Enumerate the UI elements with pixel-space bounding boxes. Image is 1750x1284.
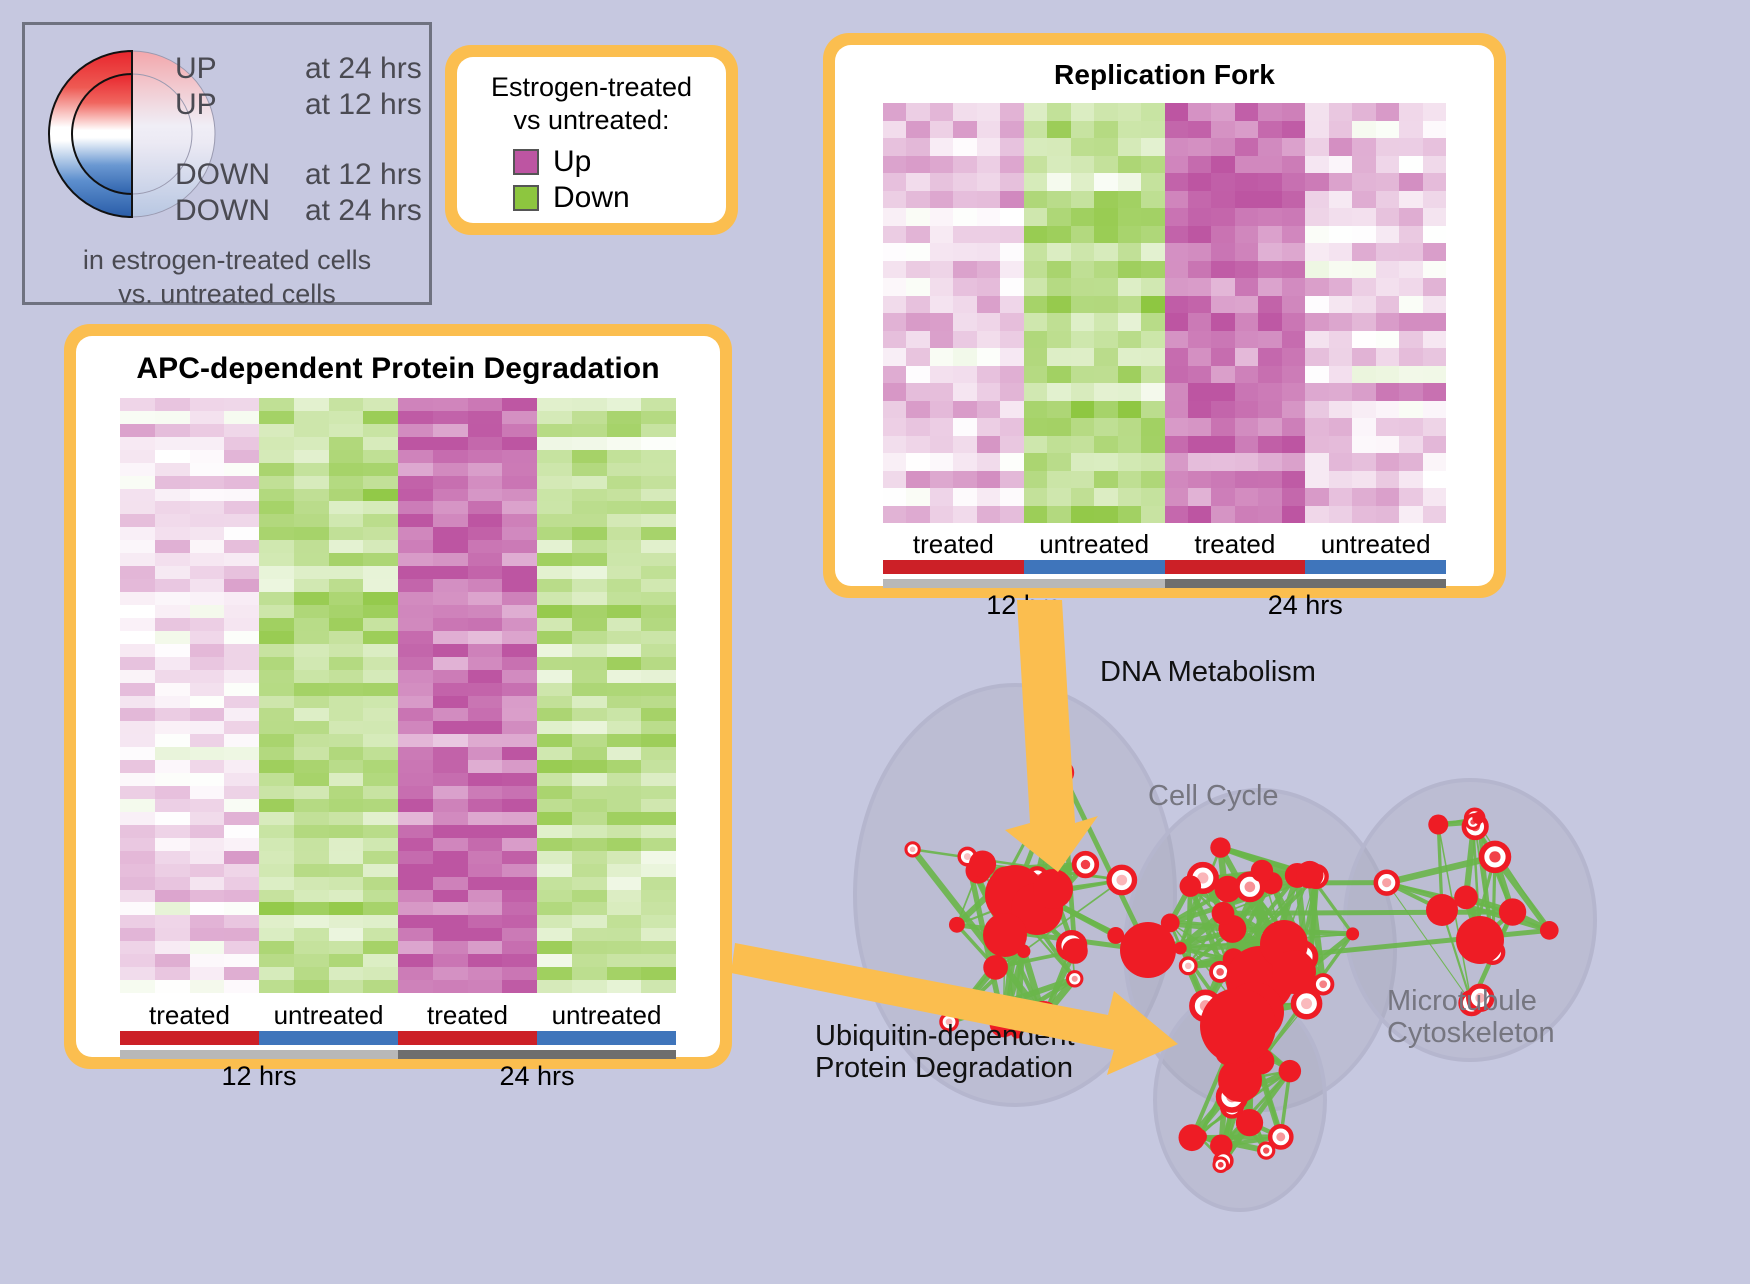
heatmap-cell — [1141, 383, 1164, 401]
heatmap-cell — [1094, 296, 1117, 314]
heatmap-cell — [468, 501, 503, 514]
heatmap-cell — [398, 696, 433, 709]
heatmap-cell — [977, 173, 1000, 191]
heatmap-cell — [537, 696, 572, 709]
replication-fork-time-bars — [883, 579, 1446, 588]
heatmap-cell — [294, 463, 329, 476]
heatmap-cell — [468, 592, 503, 605]
heatmap-cell — [1282, 331, 1305, 349]
heatmap-cell — [155, 489, 190, 502]
heatmap-cell — [1282, 296, 1305, 314]
heatmap-cell — [641, 566, 676, 579]
heatmap-cell — [572, 941, 607, 954]
heatmap-cell — [190, 721, 225, 734]
heatmap-cell — [502, 838, 537, 851]
heatmap-cell — [641, 890, 676, 903]
heatmap-cell — [537, 514, 572, 527]
heatmap-cell — [953, 383, 976, 401]
heatmap-cell — [572, 553, 607, 566]
heatmap-cell — [190, 501, 225, 514]
heatmap-cell — [1118, 383, 1141, 401]
heatmap-cell — [329, 734, 364, 747]
heatmap-cell — [363, 941, 398, 954]
network-node — [1212, 902, 1235, 925]
heatmap-cell — [329, 618, 364, 631]
key-time: at 12 hrs — [305, 157, 422, 193]
time-bar-24hrs — [1165, 579, 1447, 588]
heatmap-cell — [607, 618, 642, 631]
heatmap-cell — [329, 424, 364, 437]
heatmap-cell — [120, 915, 155, 928]
heatmap-cell — [953, 401, 976, 419]
heatmap-cell — [398, 851, 433, 864]
heatmap-cell — [1000, 453, 1023, 471]
heatmap-cell — [572, 877, 607, 890]
heatmap-cell — [120, 877, 155, 890]
heatmap-cell — [641, 631, 676, 644]
heatmap-cell — [537, 864, 572, 877]
heatmap-cell — [906, 506, 929, 524]
heatmap-cell — [537, 618, 572, 631]
network-node-core — [964, 853, 971, 860]
heatmap-cell — [294, 825, 329, 838]
heatmap-cell — [398, 812, 433, 825]
heatmap-cell — [930, 453, 953, 471]
network-node — [1472, 812, 1484, 824]
heatmap-cell — [363, 605, 398, 618]
heatmap-cell — [398, 670, 433, 683]
heatmap-cell — [1235, 121, 1258, 139]
heatmap-cell — [1188, 366, 1211, 384]
heatmap-cell — [1305, 506, 1328, 524]
heatmap-cell — [398, 721, 433, 734]
heatmap-cell — [1282, 138, 1305, 156]
heatmap-cell — [1329, 418, 1352, 436]
heatmap-cell — [433, 747, 468, 760]
heatmap-cell — [1235, 208, 1258, 226]
heatmap-cell — [155, 605, 190, 618]
heatmap-cell — [1000, 383, 1023, 401]
heatmap-cell — [259, 424, 294, 437]
heatmap-cell — [433, 398, 468, 411]
heatmap-cell — [953, 313, 976, 331]
heatmap-cell — [468, 799, 503, 812]
heatmap-cell — [1305, 226, 1328, 244]
heatmap-cell — [120, 696, 155, 709]
heatmap-cell — [1258, 138, 1281, 156]
heatmap-cell — [1188, 278, 1211, 296]
heatmap-cell — [537, 437, 572, 450]
heatmap-cell — [1211, 488, 1234, 506]
heatmap-cell — [1047, 261, 1070, 279]
heatmap-cell — [468, 890, 503, 903]
heatmap-cell — [977, 261, 1000, 279]
heatmap-cell — [1071, 173, 1094, 191]
heatmap-cell — [259, 437, 294, 450]
heatmap-cell — [502, 773, 537, 786]
heatmap-cell — [1094, 436, 1117, 454]
heatmap-cell — [1399, 506, 1422, 524]
heatmap-cell — [502, 708, 537, 721]
heatmap-cell — [1329, 208, 1352, 226]
heatmap-cell — [363, 566, 398, 579]
network-node-core — [1116, 875, 1127, 886]
heatmap-cell — [468, 902, 503, 915]
heatmap-cell — [537, 411, 572, 424]
heatmap-cell — [190, 786, 225, 799]
heatmap-cell — [502, 670, 537, 683]
heatmap-cell — [1305, 278, 1328, 296]
heatmap-cell — [1118, 103, 1141, 121]
heatmap-cell — [502, 618, 537, 631]
heatmap-cell — [641, 683, 676, 696]
heatmap-cell — [120, 411, 155, 424]
heatmap-cell — [294, 437, 329, 450]
heatmap-cell — [433, 540, 468, 553]
heatmap-cell — [468, 605, 503, 618]
heatmap-cell — [398, 773, 433, 786]
heatmap-cell — [329, 514, 364, 527]
heatmap-cell — [1423, 226, 1446, 244]
heatmap-cell — [502, 980, 537, 993]
heatmap-cell — [607, 437, 642, 450]
heatmap-cell — [1211, 156, 1234, 174]
heatmap-cell — [1024, 156, 1047, 174]
heatmap-cell — [537, 553, 572, 566]
heatmap-cell — [537, 799, 572, 812]
heatmap-cell — [1024, 506, 1047, 524]
heatmap-cell — [294, 812, 329, 825]
heatmap-cell — [363, 501, 398, 514]
heatmap-cell — [572, 424, 607, 437]
heatmap-cell — [906, 366, 929, 384]
heatmap-cell — [1188, 401, 1211, 419]
heatmap-cell — [259, 708, 294, 721]
heatmap-cell — [1211, 453, 1234, 471]
heatmap-cell — [259, 786, 294, 799]
heatmap-cell — [1423, 208, 1446, 226]
heatmap-cell — [259, 579, 294, 592]
heatmap-cell — [294, 489, 329, 502]
heatmap-cell — [155, 721, 190, 734]
heatmap-cell — [294, 631, 329, 644]
heatmap-cell — [329, 644, 364, 657]
heatmap-cell — [1118, 173, 1141, 191]
heatmap-cell — [1423, 488, 1446, 506]
heatmap-cell — [259, 980, 294, 993]
heatmap-cell — [607, 877, 642, 890]
heatmap-cell — [1094, 156, 1117, 174]
heatmap-cell — [953, 226, 976, 244]
heatmap-cell — [363, 734, 398, 747]
heatmap-cell — [641, 592, 676, 605]
heatmap-cell — [1399, 226, 1422, 244]
heatmap-cell — [641, 411, 676, 424]
heatmap-cell — [155, 954, 190, 967]
heatmap-cell — [433, 592, 468, 605]
heatmap-cell — [1258, 506, 1281, 524]
heatmap-cell — [468, 683, 503, 696]
heatmap-cell — [433, 514, 468, 527]
heatmap-cell — [398, 476, 433, 489]
heatmap-cell — [1094, 331, 1117, 349]
heatmap-cell — [120, 760, 155, 773]
heatmap-cell — [1258, 418, 1281, 436]
heatmap-cell — [259, 838, 294, 851]
heatmap-cell — [502, 437, 537, 450]
heatmap-cell — [363, 540, 398, 553]
heatmap-cell — [224, 683, 259, 696]
heatmap-cell — [294, 967, 329, 980]
heatmap-cell — [224, 670, 259, 683]
heatmap-cell — [977, 348, 1000, 366]
heatmap-cell — [1188, 156, 1211, 174]
heatmap-cell — [120, 838, 155, 851]
heatmap-cell — [1047, 138, 1070, 156]
network-node — [1272, 950, 1316, 994]
heatmap-cell — [190, 890, 225, 903]
heatmap-cell — [329, 786, 364, 799]
heatmap-cell — [1235, 243, 1258, 261]
heatmap-cell — [1423, 436, 1446, 454]
heatmap-cell — [259, 553, 294, 566]
heatmap-cell — [537, 450, 572, 463]
heatmap-cell — [930, 471, 953, 489]
heatmap-cell — [1141, 453, 1164, 471]
heatmap-cell — [572, 605, 607, 618]
heatmap-cell — [259, 928, 294, 941]
heatmap-cell — [1235, 278, 1258, 296]
heatmap-cell — [433, 721, 468, 734]
network-node — [1296, 861, 1324, 889]
heatmap-cell — [1165, 366, 1188, 384]
heatmap-cell — [329, 902, 364, 915]
network-node — [1499, 898, 1526, 925]
heatmap-cell — [1094, 418, 1117, 436]
heatmap-cell — [1071, 208, 1094, 226]
heatmap-cell — [1423, 156, 1446, 174]
heatmap-cell — [190, 644, 225, 657]
heatmap-cell — [1094, 471, 1117, 489]
heatmap-cell — [1352, 208, 1375, 226]
heatmap-cell — [259, 501, 294, 514]
heatmap-cell — [259, 734, 294, 747]
heatmap-cell — [329, 670, 364, 683]
heatmap-cell — [641, 501, 676, 514]
heatmap-cell — [468, 838, 503, 851]
heatmap-cell — [1188, 243, 1211, 261]
heatmap-cell — [1329, 278, 1352, 296]
heatmap-cell — [224, 890, 259, 903]
heatmap-cell — [329, 540, 364, 553]
heatmap-cell — [1282, 366, 1305, 384]
heatmap-cell — [155, 967, 190, 980]
heatmap-cell — [190, 864, 225, 877]
heatmap-cell — [155, 514, 190, 527]
heatmap-cell — [977, 471, 1000, 489]
heatmap-cell — [1141, 436, 1164, 454]
heatmap-cell — [1118, 243, 1141, 261]
heatmap-cell — [572, 851, 607, 864]
heatmap-cell — [433, 915, 468, 928]
heatmap-cell — [224, 501, 259, 514]
heatmap-cell — [502, 514, 537, 527]
heatmap-cell — [953, 488, 976, 506]
heatmap-cell — [641, 579, 676, 592]
network-node — [1200, 988, 1276, 1064]
time-bar-12hrs — [120, 1050, 398, 1059]
heatmap-cell — [468, 812, 503, 825]
heatmap-cell — [537, 915, 572, 928]
heatmap-cell — [537, 838, 572, 851]
heatmap-cell — [294, 527, 329, 540]
heatmap-cell — [1305, 383, 1328, 401]
heatmap-cell — [433, 708, 468, 721]
heatmap-cell — [363, 476, 398, 489]
heatmap-cell — [1423, 331, 1446, 349]
heatmap-cell — [1118, 418, 1141, 436]
heatmap-cell — [1047, 488, 1070, 506]
heatmap-cell — [607, 411, 642, 424]
heatmap-cell — [224, 747, 259, 760]
heatmap-cell — [468, 527, 503, 540]
heatmap-cell — [537, 747, 572, 760]
heatmap-cell — [953, 156, 976, 174]
heatmap-cell — [120, 721, 155, 734]
heatmap-cell — [329, 450, 364, 463]
heatmap-cell — [1141, 296, 1164, 314]
heatmap-cell — [883, 103, 906, 121]
heatmap-cell — [433, 437, 468, 450]
heatmap-cell — [329, 721, 364, 734]
heatmap-cell — [1258, 243, 1281, 261]
heatmap-cell — [641, 489, 676, 502]
heatmap-cell — [502, 527, 537, 540]
condition-label: treated — [1165, 529, 1306, 560]
heatmap-cell — [537, 812, 572, 825]
heatmap-cell — [1399, 488, 1422, 506]
heatmap-cell — [1329, 261, 1352, 279]
heatmap-cell — [468, 463, 503, 476]
heatmap-cell — [1141, 313, 1164, 331]
heatmap-cell — [572, 928, 607, 941]
heatmap-cell — [572, 631, 607, 644]
heatmap-cell — [883, 296, 906, 314]
heatmap-cell — [155, 540, 190, 553]
heatmap-cell — [1399, 331, 1422, 349]
heatmap-cell — [1071, 138, 1094, 156]
heatmap-cell — [502, 941, 537, 954]
heatmap-cell — [259, 954, 294, 967]
heatmap-cell — [155, 747, 190, 760]
heatmap-cell — [433, 424, 468, 437]
heatmap-cell — [294, 476, 329, 489]
heatmap-cell — [329, 954, 364, 967]
heatmap-cell — [224, 605, 259, 618]
heatmap-cell — [468, 631, 503, 644]
heatmap-cell — [641, 851, 676, 864]
heatmap-cell — [433, 605, 468, 618]
heatmap-cell — [1423, 173, 1446, 191]
heatmap-cell — [433, 928, 468, 941]
heatmap-cell — [1282, 506, 1305, 524]
heatmap-cell — [906, 488, 929, 506]
heatmap-cell — [329, 980, 364, 993]
heatmap-cell — [259, 760, 294, 773]
heatmap-cell — [120, 864, 155, 877]
heatmap-cell — [1000, 138, 1023, 156]
heatmap-cell — [363, 644, 398, 657]
heatmap-cell — [294, 902, 329, 915]
heatmap-cell — [120, 773, 155, 786]
heatmap-cell — [1282, 156, 1305, 174]
heatmap-cell — [120, 683, 155, 696]
heatmap-cell — [1376, 261, 1399, 279]
heatmap-cell — [1118, 348, 1141, 366]
heatmap-cell — [1258, 208, 1281, 226]
heatmap-cell — [259, 592, 294, 605]
key-time: at 24 hrs — [305, 51, 422, 87]
network-node-core — [1244, 882, 1255, 893]
heatmap-cell — [398, 527, 433, 540]
heatmap-cell — [1258, 313, 1281, 331]
heatmap-cell — [433, 670, 468, 683]
heatmap-cell — [641, 967, 676, 980]
heatmap-cell — [641, 708, 676, 721]
heatmap-cell — [607, 398, 642, 411]
heatmap-cell — [259, 527, 294, 540]
heatmap-cell — [224, 734, 259, 747]
heatmap-cell — [294, 864, 329, 877]
heatmap-cell — [953, 103, 976, 121]
heatmap-cell — [224, 476, 259, 489]
heatmap-cell — [930, 208, 953, 226]
heatmap-cell — [329, 773, 364, 786]
heatmap-cell — [537, 657, 572, 670]
heatmap-cell — [641, 812, 676, 825]
heatmap-cell — [224, 644, 259, 657]
heatmap-cell — [1423, 103, 1446, 121]
heatmap-cell — [224, 527, 259, 540]
heatmap-cell — [259, 670, 294, 683]
heatmap-cell — [224, 980, 259, 993]
heatmap-cell — [1141, 401, 1164, 419]
heatmap-cell — [155, 799, 190, 812]
heatmap-cell — [1071, 261, 1094, 279]
heatmap-cell — [1423, 401, 1446, 419]
replication-fork-panel: Replication Fork treated untreated treat… — [823, 33, 1506, 598]
heatmap-cell — [155, 864, 190, 877]
heatmap-cell — [1305, 401, 1328, 419]
heatmap-cell — [468, 476, 503, 489]
heatmap-cell — [190, 954, 225, 967]
heatmap-cell — [329, 527, 364, 540]
heatmap-cell — [468, 553, 503, 566]
heatmap-cell — [468, 708, 503, 721]
heatmap-cell — [155, 476, 190, 489]
heatmap-cell — [930, 156, 953, 174]
network-node — [1426, 894, 1458, 926]
network-node — [1454, 886, 1478, 910]
heatmap-cell — [259, 825, 294, 838]
key-row-up-24: UP at 24 hrs — [175, 51, 425, 87]
heatmap-cell — [363, 773, 398, 786]
heatmap-cell — [537, 670, 572, 683]
network-node-core — [1081, 860, 1090, 869]
heatmap-cell — [906, 348, 929, 366]
network-node — [983, 955, 1008, 980]
heatmap-cell — [329, 890, 364, 903]
